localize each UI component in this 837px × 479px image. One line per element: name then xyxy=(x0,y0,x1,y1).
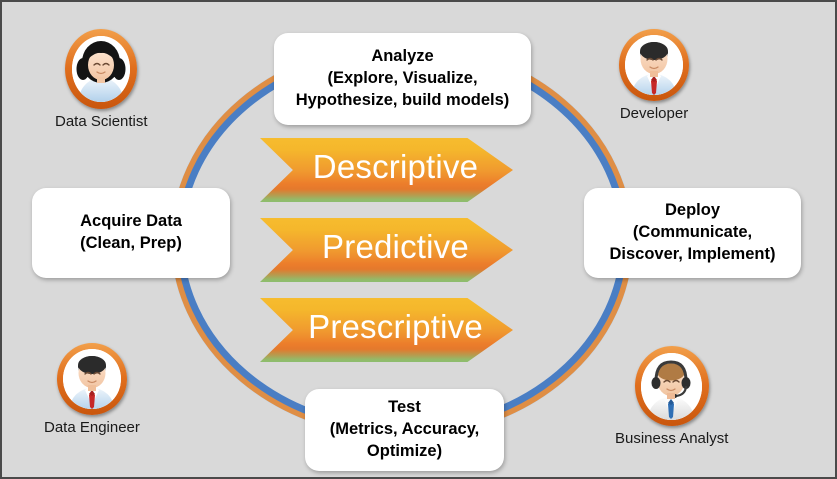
persona-label: Data Engineer xyxy=(44,419,140,436)
avatar-ring xyxy=(57,343,127,415)
callout-line: Optimize) xyxy=(367,441,442,463)
callout-line: Deploy xyxy=(665,200,720,222)
avatar-ring xyxy=(635,346,709,426)
persona-data-engineer[interactable]: Data Engineer xyxy=(44,343,140,436)
persona-label: Developer xyxy=(620,105,688,122)
avatar xyxy=(625,35,683,95)
stage-label: Prescriptive xyxy=(290,308,483,352)
callout-line: Test xyxy=(388,397,421,419)
stage-chevron-descriptive[interactable]: Descriptive xyxy=(260,138,513,202)
callout-line: Discover, Implement) xyxy=(610,244,776,266)
stage-label: Descriptive xyxy=(295,148,478,192)
persona-label: Data Scientist xyxy=(55,113,148,130)
callout-line: (Metrics, Accuracy, xyxy=(330,419,479,441)
diagram-canvas: Descriptive Predictive Prescriptive Anal… xyxy=(0,0,837,479)
callout-line: (Explore, Visualize, xyxy=(327,68,477,90)
callout-line: (Communicate, xyxy=(633,222,752,244)
callout-line: (Clean, Prep) xyxy=(80,233,182,255)
person-male-tie-avatar-icon xyxy=(625,35,683,95)
stage-chevron-prescriptive[interactable]: Prescriptive xyxy=(260,298,513,362)
avatar xyxy=(63,349,121,409)
callout-line: Acquire Data xyxy=(80,211,182,233)
persona-label: Business Analyst xyxy=(615,430,728,447)
avatar xyxy=(641,353,702,420)
avatar-ring xyxy=(619,29,689,101)
persona-data-scientist[interactable]: Data Scientist xyxy=(55,29,148,130)
callout-line: Analyze xyxy=(371,46,433,68)
person-female-avatar-icon xyxy=(72,36,130,102)
stage-label: Predictive xyxy=(304,228,469,272)
callout-acquire-data[interactable]: Acquire Data (Clean, Prep) xyxy=(32,188,230,278)
callout-line: Hypothesize, build models) xyxy=(296,90,510,112)
avatar xyxy=(72,36,130,102)
persona-business-analyst[interactable]: Business Analyst xyxy=(615,346,728,447)
stage-chevron-predictive[interactable]: Predictive xyxy=(260,218,513,282)
person-male-tie-avatar-icon xyxy=(63,349,121,409)
person-headset-agent-avatar-icon xyxy=(641,353,702,420)
callout-test[interactable]: Test (Metrics, Accuracy, Optimize) xyxy=(305,389,504,471)
persona-developer[interactable]: Developer xyxy=(619,29,689,122)
avatar-ring xyxy=(65,29,137,109)
callout-deploy[interactable]: Deploy (Communicate, Discover, Implement… xyxy=(584,188,801,278)
callout-analyze[interactable]: Analyze (Explore, Visualize, Hypothesize… xyxy=(274,33,531,125)
